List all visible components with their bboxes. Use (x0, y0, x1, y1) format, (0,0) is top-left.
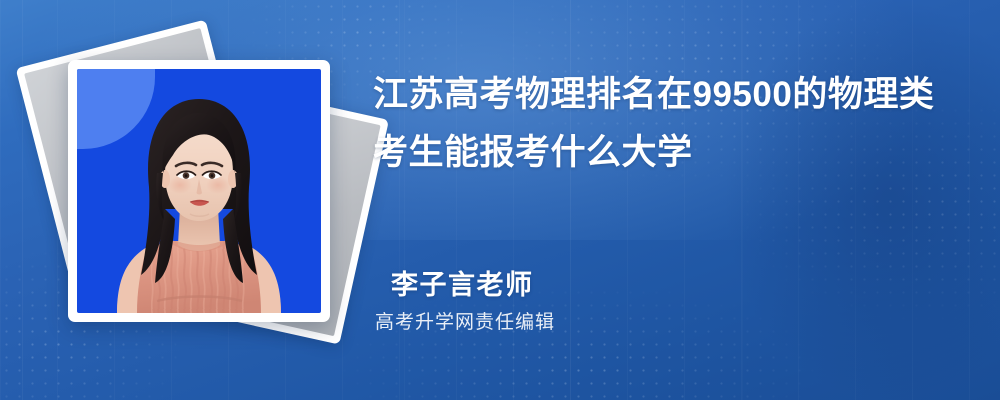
headline-block: 江苏高考物理排名在99500的物理类考生能报考什么大学 (373, 66, 973, 182)
teacher-portrait-image (77, 69, 321, 313)
author-role: 高考升学网责任编辑 (373, 308, 793, 338)
author-name: 李子言老师 (373, 268, 793, 302)
portrait-photo-stack (56, 38, 356, 368)
portrait-photo-canvas (77, 69, 321, 313)
background-right-vignette (660, 0, 1000, 400)
article-cover-banner: 江苏高考物理排名在99500的物理类考生能报考什么大学 李子言老师 高考升学网责… (0, 0, 1000, 400)
author-byline: 李子言老师 高考升学网责任编辑 (373, 268, 793, 338)
portrait-photo-frame (68, 60, 330, 322)
page-title: 江苏高考物理排名在99500的物理类考生能报考什么大学 (373, 66, 938, 182)
